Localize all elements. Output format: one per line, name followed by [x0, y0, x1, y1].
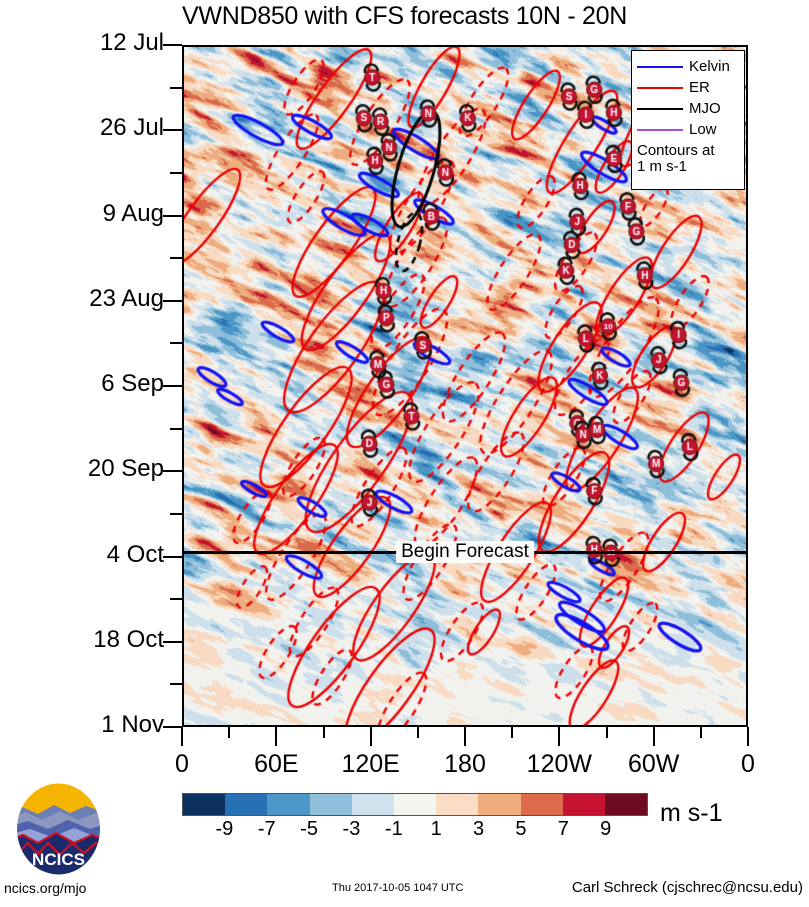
x-tick-minor: [228, 727, 230, 738]
colorbar-segment: [310, 794, 352, 815]
colorbar-tick-label: 3: [473, 818, 484, 841]
colorbar-tick-label: -9: [215, 818, 233, 841]
legend-label-er: ER: [689, 80, 710, 95]
colorbar-segment: [605, 794, 647, 815]
y-axis-label: 18 Oct: [14, 626, 164, 654]
page-title: VWND850 with CFS forecasts 10N - 20N: [0, 2, 809, 31]
colorbar-segment: [267, 794, 309, 815]
colorbar-tick-label: 5: [515, 818, 526, 841]
colorbar-tick-label: 1: [431, 818, 442, 841]
footer-left: ncics.org/mjo: [4, 880, 86, 896]
y-tick-minor: [170, 87, 182, 89]
x-axis-label: 60E: [254, 750, 298, 779]
y-axis-label: 26 Jul: [14, 114, 164, 142]
legend-item-mjo: MJO: [637, 98, 740, 119]
y-tick-major: [163, 300, 182, 302]
y-axis-label: 4 Oct: [14, 541, 164, 569]
colorbar-tick-label: -5: [300, 818, 318, 841]
legend-item-kelvin: Kelvin: [637, 56, 740, 77]
colorbar-units: m s-1: [660, 799, 723, 828]
y-axis-label: 12 Jul: [14, 29, 164, 57]
x-tick-major: [558, 727, 560, 746]
footer-center: Thu 2017-10-05 1047 UTC: [332, 882, 463, 894]
legend-note-line2: 1 m s-1: [637, 159, 740, 175]
y-tick-minor: [170, 257, 182, 259]
y-tick-major: [163, 44, 182, 46]
begin-forecast-label: Begin Forecast: [396, 541, 534, 563]
legend-swatch-er: [637, 87, 683, 89]
y-tick-major: [163, 641, 182, 643]
legend-label-low: Low: [689, 122, 717, 137]
legend-label-kelvin: Kelvin: [689, 59, 730, 74]
y-axis-label: 23 Aug: [14, 285, 164, 313]
colorbar-segment: [478, 794, 520, 815]
y-tick-minor: [170, 513, 182, 515]
y-tick-major: [163, 556, 182, 558]
x-tick-minor: [417, 727, 419, 738]
footer-right: Carl Schreck (cjschrec@ncsu.edu): [572, 879, 803, 896]
x-axis-label: 60W: [628, 750, 679, 779]
colorbar-segment: [436, 794, 478, 815]
x-axis-label: 120E: [341, 750, 399, 779]
x-tick-major: [747, 727, 749, 746]
legend-swatch-low: [637, 129, 683, 131]
colorbar-segment: [394, 794, 436, 815]
y-tick-minor: [170, 598, 182, 600]
colorbar-segment: [352, 794, 394, 815]
colorbar: [182, 793, 648, 816]
legend-note-line1: Contours at: [637, 143, 740, 159]
ncics-logo: NCICS: [8, 783, 109, 875]
y-axis-label: 1 Nov: [14, 711, 164, 739]
x-tick-major: [275, 727, 277, 746]
x-tick-minor: [606, 727, 608, 738]
x-tick-major: [370, 727, 372, 746]
y-axis-label: 20 Sep: [14, 455, 164, 483]
x-axis-label: 180: [444, 750, 486, 779]
colorbar-tick-label: 7: [558, 818, 569, 841]
colorbar-tick-label: 9: [600, 818, 611, 841]
y-tick-major: [163, 129, 182, 131]
x-tick-major: [181, 727, 183, 746]
legend-label-mjo: MJO: [689, 101, 721, 116]
colorbar-segment: [563, 794, 605, 815]
legend-item-low: Low: [637, 119, 740, 140]
legend-item-er: ER: [637, 77, 740, 98]
y-axis-label: 6 Sep: [14, 370, 164, 398]
y-tick-major: [163, 726, 182, 728]
y-tick-minor: [170, 428, 182, 430]
colorbar-tick-label: -3: [343, 818, 361, 841]
y-tick-major: [163, 470, 182, 472]
x-axis-label: 0: [175, 750, 189, 779]
colorbar-segment: [521, 794, 563, 815]
y-tick-major: [163, 385, 182, 387]
legend-swatch-kelvin: [637, 66, 683, 68]
colorbar-segment: [183, 794, 225, 815]
x-axis-label: 120W: [527, 750, 592, 779]
colorbar-tick-label: -7: [258, 818, 276, 841]
colorbar-segment: [225, 794, 267, 815]
y-tick-minor: [170, 683, 182, 685]
x-axis-label: 0: [741, 750, 755, 779]
x-tick-minor: [323, 727, 325, 738]
y-tick-major: [163, 215, 182, 217]
x-tick-major: [653, 727, 655, 746]
x-tick-major: [464, 727, 466, 746]
legend-swatch-mjo: [637, 108, 683, 110]
legend: Kelvin ER MJO Low Contours at 1 m s-1: [631, 50, 745, 190]
y-tick-minor: [170, 172, 182, 174]
x-tick-minor: [511, 727, 513, 738]
y-axis-label: 9 Aug: [14, 200, 164, 228]
y-tick-minor: [170, 342, 182, 344]
svg-text:NCICS: NCICS: [32, 850, 85, 869]
colorbar-tick-label: -1: [385, 818, 403, 841]
x-tick-minor: [700, 727, 702, 738]
